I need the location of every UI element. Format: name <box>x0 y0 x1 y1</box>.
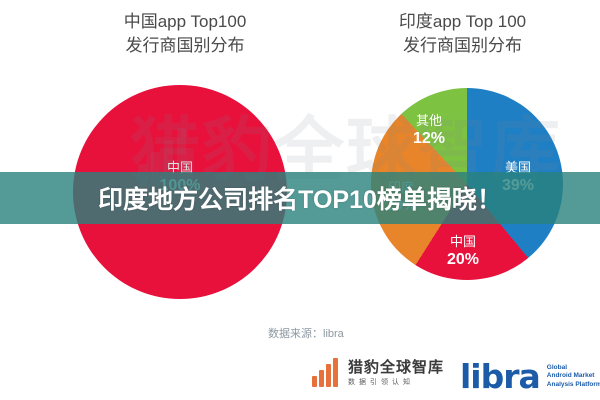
cheetah-logo: 猎豹全球智库 数据引领认知 <box>312 358 444 387</box>
headline-text: 印度地方公司排名TOP10榜单揭晓！ <box>0 172 600 224</box>
data-source-note: 数据来源：libra <box>268 325 344 341</box>
pie-slice-label-china: 中国 20% <box>440 234 486 269</box>
libra-logo-name: libra <box>460 360 540 393</box>
cheetah-logo-name: 猎豹全球智库 <box>348 359 444 376</box>
left-chart-title: 中国app Top100 发行商国别分布 <box>75 10 295 58</box>
footer-logos: 猎豹全球智库 数据引领认知 libra Global Android Marke… <box>0 358 600 400</box>
cheetah-bars-icon <box>312 358 340 387</box>
pie-slice-label-other: 其他 12% <box>406 113 452 148</box>
cheetah-logo-tagline: 数据引领认知 <box>348 379 444 386</box>
poster-canvas: 猎豹全球智库 中国 100% 美国 39% 中国 20% 印度 29% 其他 1… <box>0 0 600 400</box>
libra-logo-tagline: Global Android Market Analysis Platform <box>547 364 600 390</box>
right-chart-title: 印度app Top 100 发行商国别分布 <box>355 10 570 58</box>
libra-logo: libra Global Android Market Analysis Pla… <box>460 360 600 393</box>
